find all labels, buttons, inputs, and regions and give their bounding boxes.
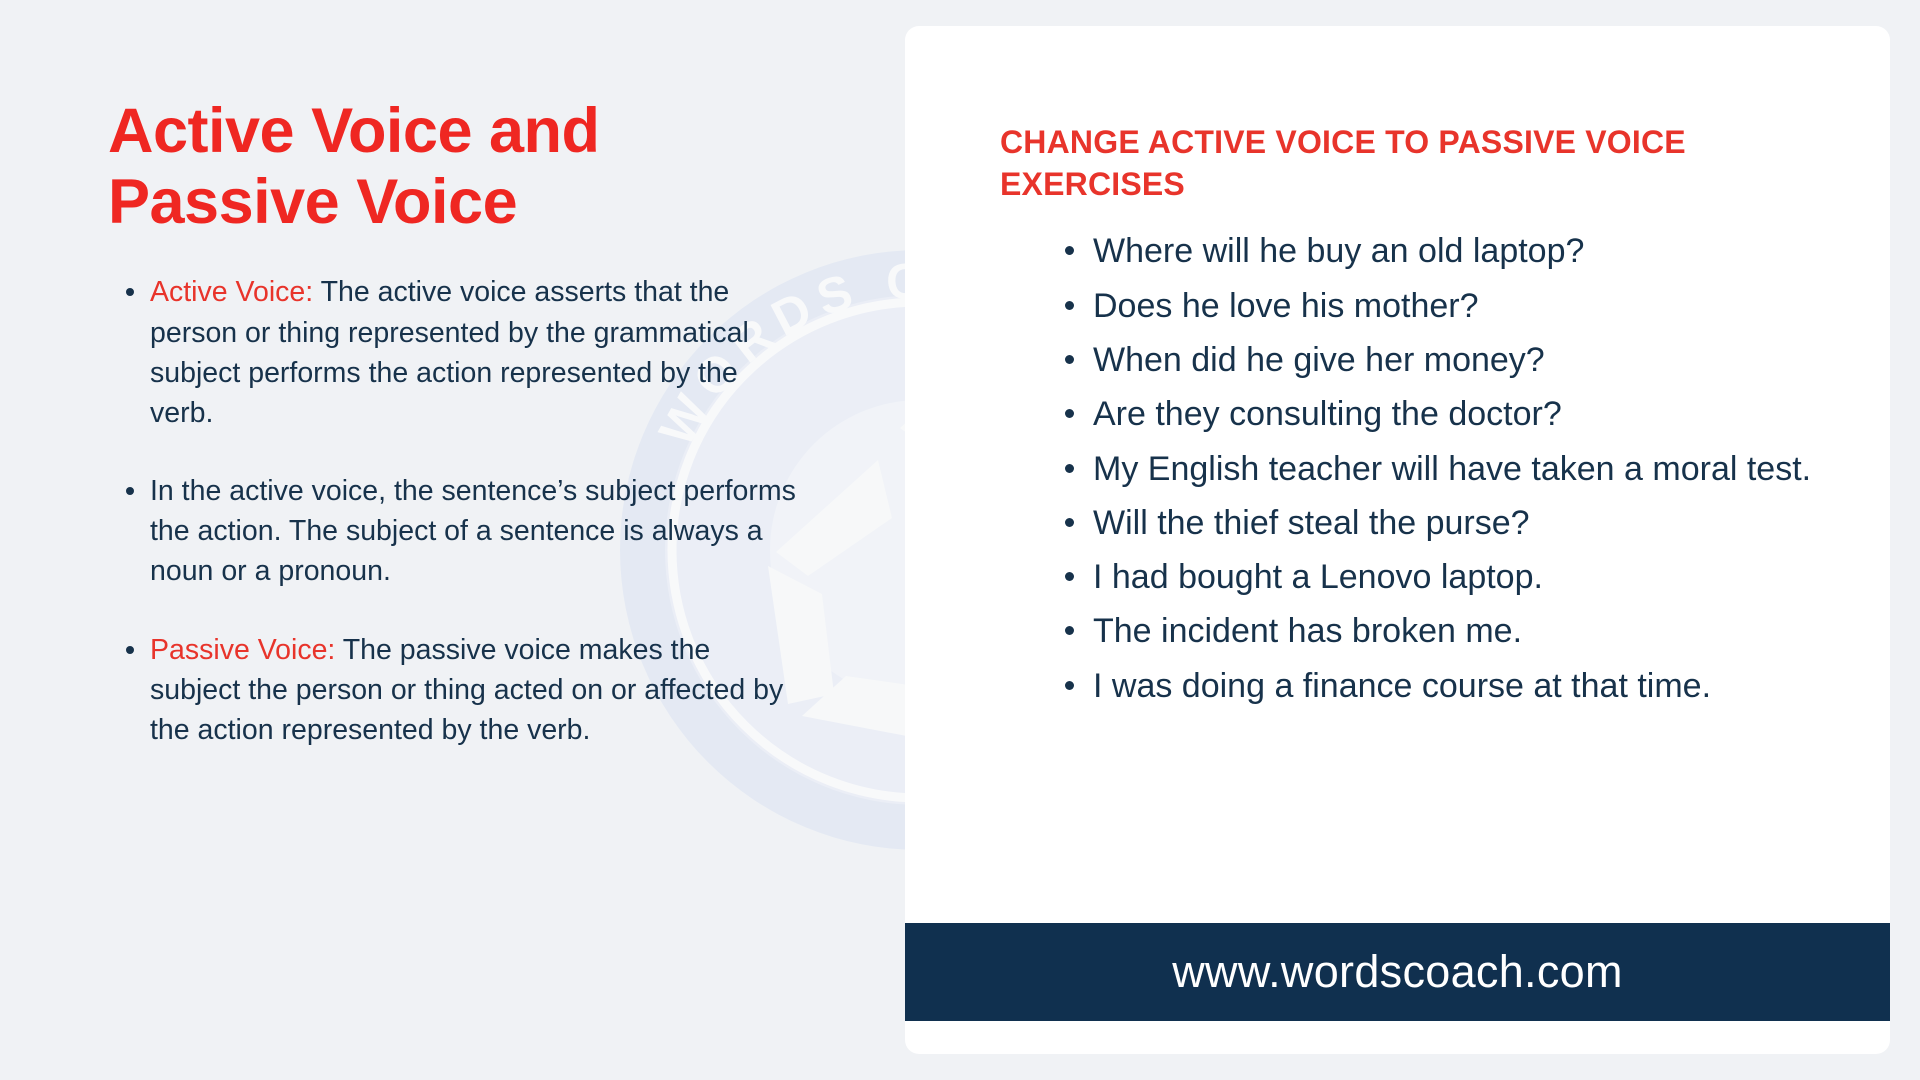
definition-item: In the active voice, the sentence’s subj… [108,471,808,592]
site-url-label[interactable]: www.wordscoach.com [1172,946,1623,998]
definition-list: Active Voice: The active voice asserts t… [108,272,868,750]
exercise-item: Where will he buy an old laptop? [1055,227,1850,275]
exercise-item: When did he give her money? [1055,336,1850,384]
exercise-item: I was doing a finance course at that tim… [1055,662,1850,710]
page-title: Active Voice and Passive Voice [108,96,688,238]
exercise-item: Does he love his mother? [1055,282,1850,330]
exercise-item: My English teacher will have taken a mor… [1055,445,1850,493]
definition-label: Passive Voice: [150,634,335,666]
exercise-heading: CHANGE ACTIVE VOICE TO PASSIVE VOICE EXE… [905,26,1890,205]
exercise-card: CHANGE ACTIVE VOICE TO PASSIVE VOICE EXE… [905,26,1890,1054]
exercise-card-content: CHANGE ACTIVE VOICE TO PASSIVE VOICE EXE… [905,26,1890,1054]
exercise-list: Where will he buy an old laptop? Does he… [905,205,1890,709]
exercise-item: The incident has broken me. [1055,607,1850,655]
exercise-item: Are they consulting the doctor? [1055,390,1850,438]
definition-text: In the active voice, the sentence’s subj… [150,475,796,587]
exercise-item: Will the thief steal the purse? [1055,499,1850,547]
definition-item: Passive Voice: The passive voice makes t… [108,630,808,751]
definition-item: Active Voice: The active voice asserts t… [108,272,808,433]
definition-label: Active Voice: [150,276,313,308]
site-footer-bar: www.wordscoach.com [905,923,1890,1021]
lesson-column: Active Voice and Passive Voice Active Vo… [108,96,868,750]
exercise-item: I had bought a Lenovo laptop. [1055,553,1850,601]
